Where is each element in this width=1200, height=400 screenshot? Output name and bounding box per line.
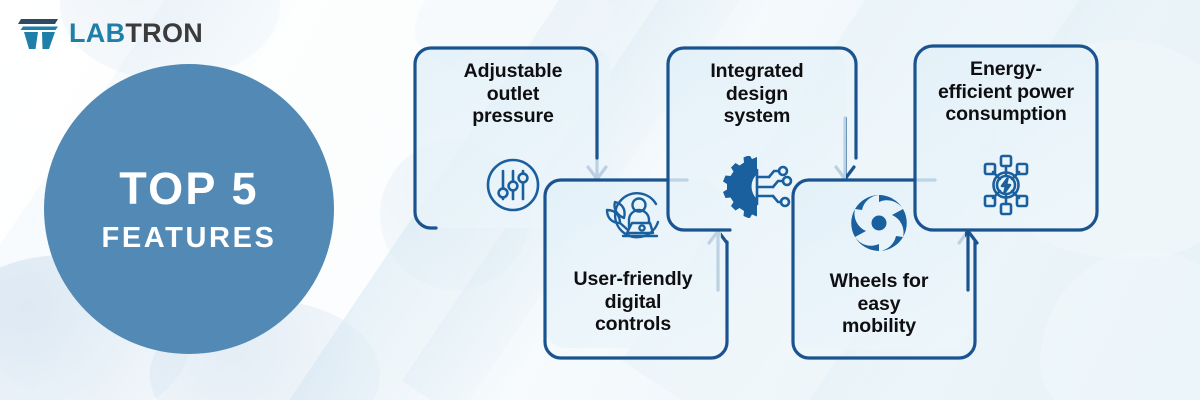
feature-card-3-label: Integrated design system [710,60,803,128]
sliders-circle-icon [482,154,544,216]
feature-card-4-label: Wheels for easy mobility [830,270,929,338]
top-5-features-badge: TOP 5 FEATURES [44,64,334,354]
feature-card-5[interactable]: Energy- efficient power consumption [915,46,1097,230]
feature-card-2-label: User-friendly digital controls [574,268,693,336]
badge-line-2: FEATURES [102,224,277,253]
infographic-canvas: LABTRON TOP 5 FEATURES Adjustable outlet… [0,0,1200,400]
person-laptop-leaf-icon [601,192,665,248]
brand-logo: LABTRON [18,16,203,50]
gear-circuit-icon [721,156,793,218]
feature-card-5-label: Energy- efficient power consumption [938,58,1074,126]
feature-card-1-label: Adjustable outlet pressure [464,60,563,128]
brand-wordmark: LABTRON [69,20,203,47]
brand-name-part2: TRON [125,18,203,48]
power-node-bolt-icon [973,152,1039,218]
labtron-monogram-icon [18,16,60,50]
badge-line-1: TOP 5 [119,166,258,211]
brand-name-part1: LAB [69,18,125,48]
impeller-wheel-icon [848,192,910,254]
